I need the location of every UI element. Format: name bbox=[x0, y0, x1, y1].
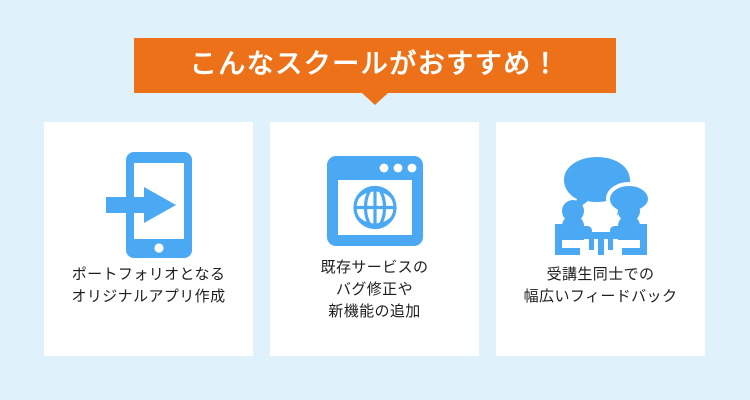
caption-line: 新機能の追加 bbox=[270, 301, 479, 323]
browser-window-globe-icon bbox=[270, 146, 479, 256]
banner-notch-triangle-icon bbox=[362, 93, 388, 105]
feature-card-caption: ポートフォリオとなる オリジナルアプリ作成 bbox=[44, 264, 253, 308]
headline-banner-title: こんなスクールがおすすめ！ bbox=[190, 51, 561, 78]
caption-line: ポートフォリオとなる bbox=[44, 264, 253, 286]
feature-card-list: ポートフォリオとなる オリジナルアプリ作成 bbox=[44, 122, 705, 356]
feature-card-portfolio-app: ポートフォリオとなる オリジナルアプリ作成 bbox=[44, 122, 253, 356]
feature-card-caption: 受講生同士での 幅広いフィードバック bbox=[496, 264, 705, 308]
caption-line: バグ修正や bbox=[270, 279, 479, 301]
promo-banner-section: こんなスクールがおすすめ！ bbox=[0, 0, 750, 400]
caption-line: オリジナルアプリ作成 bbox=[44, 286, 253, 308]
headline-banner-body: こんなスクールがおすすめ！ bbox=[134, 38, 616, 93]
caption-line: 受講生同士での bbox=[496, 264, 705, 286]
headline-banner: こんなスクールがおすすめ！ bbox=[134, 38, 616, 93]
caption-line: 既存サービスの bbox=[270, 257, 479, 279]
two-people-discussion-icon bbox=[496, 150, 705, 260]
feature-card-caption: 既存サービスの バグ修正や 新機能の追加 bbox=[270, 257, 479, 323]
smartphone-arrow-in-icon bbox=[44, 150, 253, 260]
feature-card-bugfix-feature: 既存サービスの バグ修正や 新機能の追加 bbox=[270, 122, 479, 356]
caption-line: 幅広いフィードバック bbox=[496, 286, 705, 308]
feature-card-peer-feedback: 受講生同士での 幅広いフィードバック bbox=[496, 122, 705, 356]
